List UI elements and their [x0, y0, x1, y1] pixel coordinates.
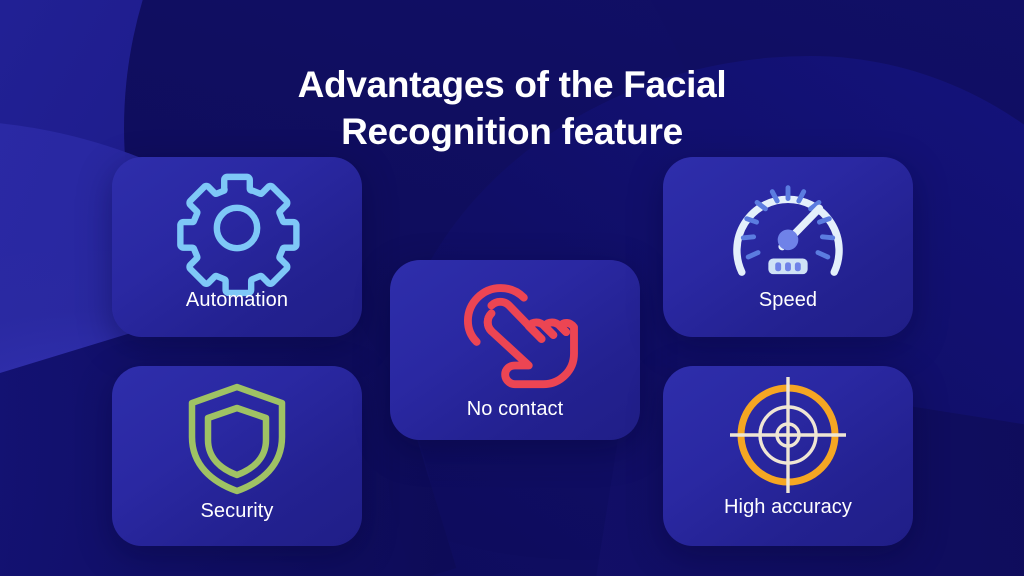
card-security[interactable]: Security [112, 366, 362, 546]
card-label-high-accuracy: High accuracy [724, 496, 852, 519]
card-automation[interactable]: Automation [112, 157, 362, 337]
card-no-contact[interactable]: No contact [390, 260, 640, 440]
gear-icon [178, 169, 296, 287]
card-label-security: Security [200, 500, 273, 523]
target-crosshair-icon [728, 376, 848, 494]
card-label-speed: Speed [759, 289, 817, 312]
page-title: Advantages of the Facial Recognition fea… [0, 61, 1024, 156]
slide-canvas: Advantages of the Facial Recognition fea… [0, 0, 1024, 576]
shield-icon [185, 380, 289, 498]
card-label-no-contact: No contact [467, 398, 564, 421]
card-high-accuracy[interactable]: High accuracy [663, 366, 913, 546]
card-speed[interactable]: Speed [663, 157, 913, 337]
hand-tap-icon [450, 276, 580, 396]
card-label-automation: Automation [186, 289, 288, 312]
speedometer-icon [726, 169, 850, 287]
